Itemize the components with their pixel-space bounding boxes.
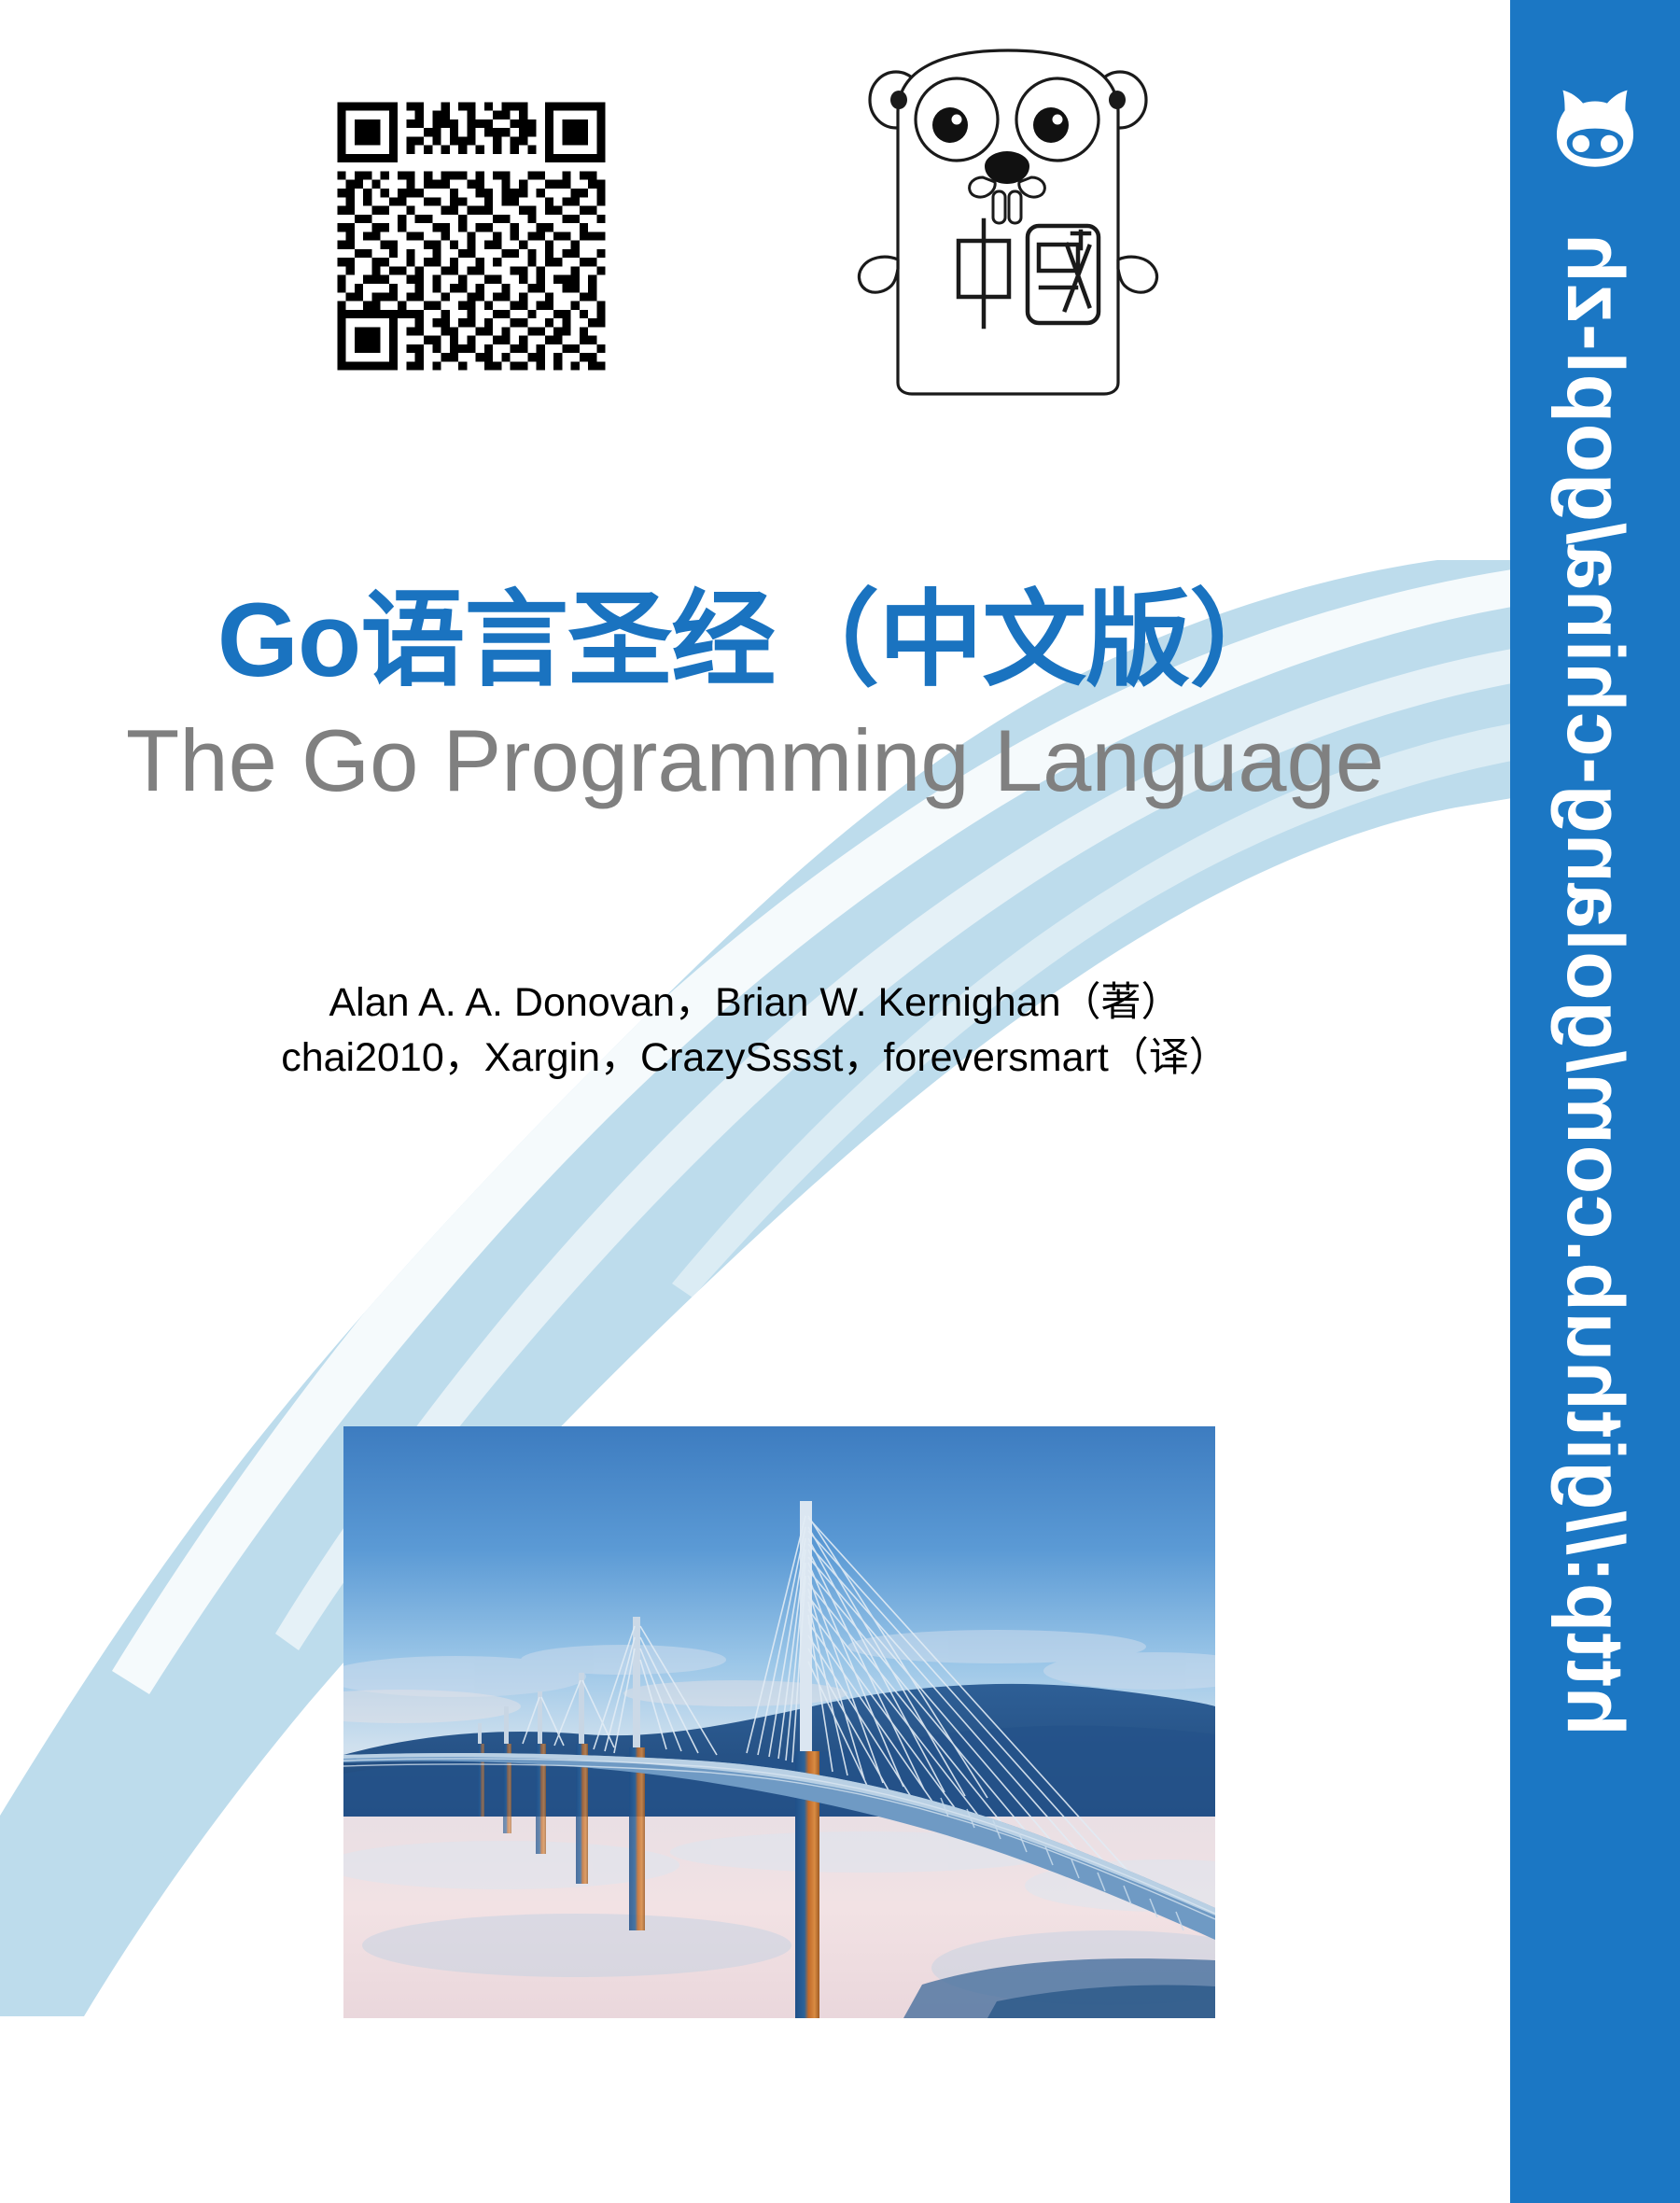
github-url-text: http://github.com/golang-china/gopl-zh [1510,233,1680,1736]
page-title-chinese: Go语言圣经（中文版） [0,579,1510,702]
qr-code[interactable] [329,93,614,379]
authors-block: Alan A. A. Donovan，Brian W. Kernighan（著）… [0,975,1510,1087]
title-block: Go语言圣经（中文版） The Go Programming Language [0,579,1510,816]
translators-line: chai2010，Xargin，CrazySssst，foreversmart（… [0,1031,1510,1086]
go-gopher-mascot [845,47,1171,397]
github-side-banner: http://github.com/golang-china/gopl-zh [1510,0,1680,2203]
millau-viaduct-bridge-photo [343,1426,1215,2018]
github-octocat-icon[interactable] [1545,82,1645,183]
page-title-english: The Go Programming Language [0,706,1510,816]
book-cover: Go语言圣经（中文版） The Go Programming Language … [0,0,1680,2203]
github-url-vertical[interactable]: http://github.com/golang-china/gopl-zh [1510,233,1680,2194]
authors-line: Alan A. A. Donovan，Brian W. Kernighan（著） [0,975,1510,1031]
